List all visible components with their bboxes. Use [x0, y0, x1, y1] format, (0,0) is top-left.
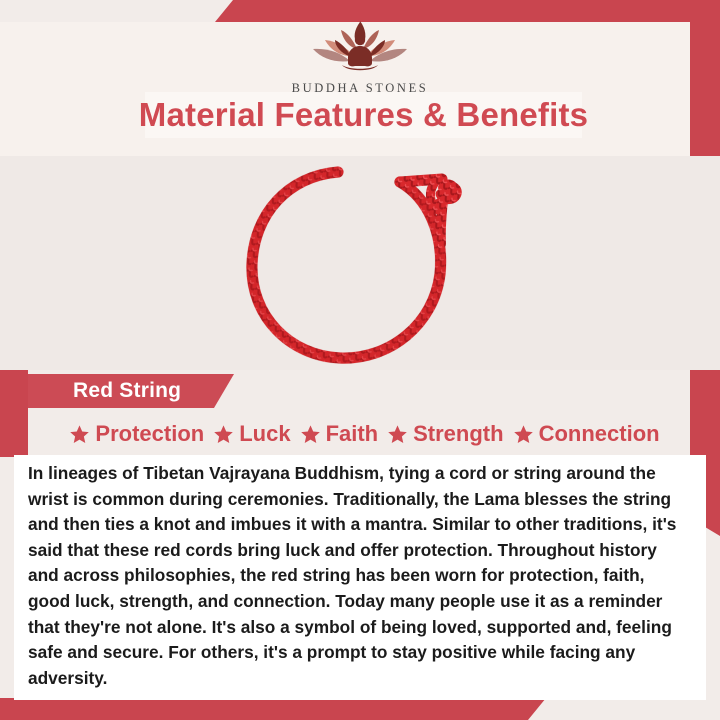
keyword-label: Protection	[95, 421, 204, 447]
brand-logo: BUDDHA STONES	[0, 16, 720, 96]
red-braided-string-bracelet	[228, 148, 492, 374]
star-icon	[213, 424, 234, 445]
description-panel: In lineages of Tibetan Vajrayana Buddhis…	[14, 455, 706, 700]
lotus-meditation-figure-icon	[295, 16, 425, 78]
keyword-item: Faith	[291, 421, 379, 447]
product-label: Red String	[28, 379, 181, 403]
star-icon	[69, 424, 90, 445]
keyword-item: Protection	[60, 421, 204, 447]
page-title: Material Features & Benefits	[139, 96, 588, 134]
description-text: In lineages of Tibetan Vajrayana Buddhis…	[28, 461, 688, 691]
keyword-label: Connection	[539, 421, 660, 447]
keyword-item: Connection	[504, 421, 660, 447]
page-title-banner: Material Features & Benefits	[145, 92, 582, 138]
keyword-item: Strength	[378, 421, 503, 447]
product-label-banner: Red String	[28, 374, 234, 408]
star-icon	[300, 424, 321, 445]
keyword-item: Luck	[204, 421, 290, 447]
keyword-label: Luck	[239, 421, 290, 447]
benefit-keyword-list: Protection Luck Faith Strength Connectio…	[0, 421, 720, 447]
star-icon	[387, 424, 408, 445]
product-image-area	[0, 156, 720, 370]
keyword-label: Strength	[413, 421, 503, 447]
frame-bottom-accent	[0, 698, 546, 720]
keyword-label: Faith	[326, 421, 379, 447]
star-icon	[513, 424, 534, 445]
